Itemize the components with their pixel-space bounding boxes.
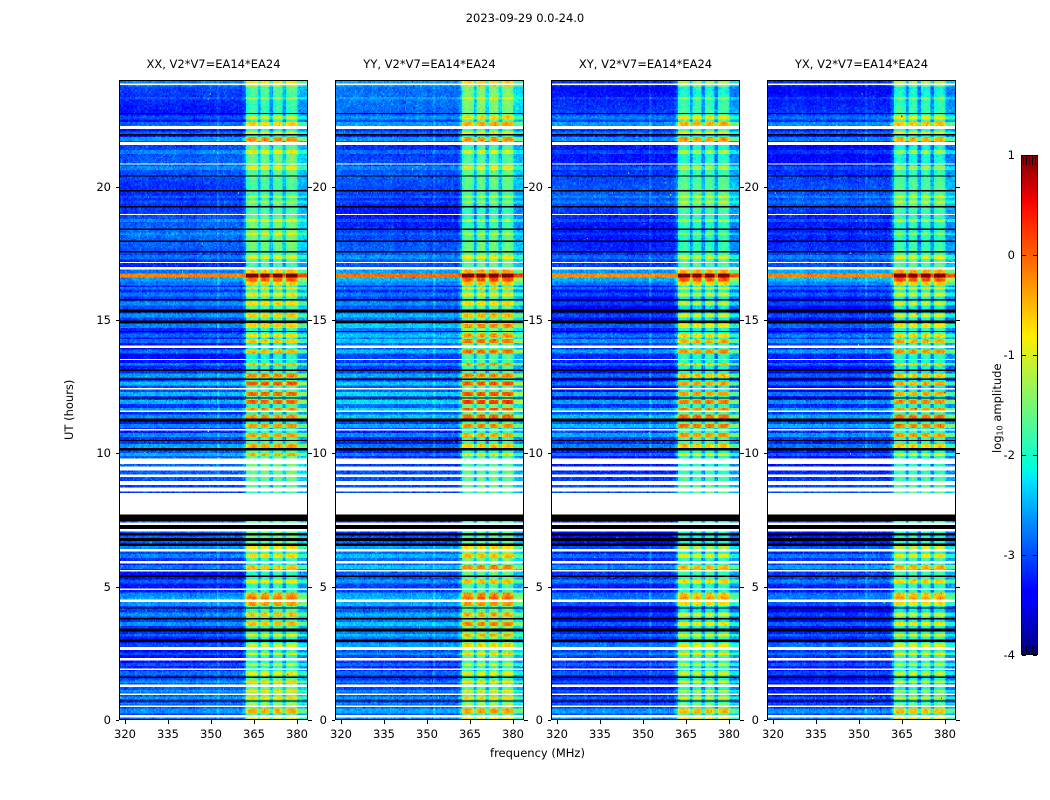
y-tick-label: 5	[85, 580, 111, 594]
x-tick	[859, 720, 860, 724]
colorbar-tick	[1033, 555, 1037, 556]
y-tick	[332, 320, 336, 321]
colorbar-minor-tick	[1023, 157, 1024, 165]
colorbar-gradient	[1022, 156, 1037, 654]
y-tick-label: 5	[517, 580, 543, 594]
y-tick	[548, 720, 552, 721]
y-tick	[116, 320, 120, 321]
x-tick-label: 320	[537, 727, 577, 741]
y-tick-label: 10	[517, 446, 543, 460]
x-tick	[902, 720, 903, 724]
panel-title-xy: XY, V2*V7=EA14*EA24	[551, 57, 740, 71]
y-tick	[332, 187, 336, 188]
x-tick-label: 350	[839, 727, 879, 741]
y-tick-label: 20	[733, 180, 759, 194]
y-tick	[764, 320, 768, 321]
colorbar-minor-tick	[1029, 645, 1030, 653]
waterfall-panel-yy[interactable]	[335, 80, 524, 720]
waterfall-panel-xy[interactable]	[551, 80, 740, 720]
x-tick	[945, 720, 946, 724]
y-tick	[332, 720, 336, 721]
x-axis-label: frequency (MHz)	[119, 746, 956, 760]
y-tick-label: 0	[733, 713, 759, 727]
waterfall-image-yx	[768, 81, 955, 719]
x-tick	[254, 720, 255, 724]
colorbar-minor-tick	[1026, 157, 1027, 165]
y-tick	[548, 587, 552, 588]
y-tick	[548, 187, 552, 188]
y-tick-label: 15	[301, 313, 327, 327]
y-tick	[764, 720, 768, 721]
colorbar-tick	[1022, 555, 1026, 556]
waterfall-panel-xx[interactable]	[119, 80, 308, 720]
y-tick-label: 20	[301, 180, 327, 194]
y-tick	[548, 320, 552, 321]
x-tick-label: 365	[450, 727, 490, 741]
y-tick	[764, 187, 768, 188]
x-tick	[470, 720, 471, 724]
y-tick	[116, 720, 120, 721]
x-tick	[600, 720, 601, 724]
colorbar-label-suffix: amplitude	[990, 364, 1004, 426]
x-tick-label: 380	[925, 727, 965, 741]
y-tick	[956, 720, 960, 721]
x-tick-label: 365	[234, 727, 274, 741]
x-tick	[384, 720, 385, 724]
x-tick-label: 365	[882, 727, 922, 741]
colorbar-tick	[1033, 255, 1037, 256]
x-tick	[168, 720, 169, 724]
colorbar-minor-tick	[1032, 157, 1033, 165]
colorbar-tick	[1022, 355, 1026, 356]
colorbar[interactable]	[1021, 155, 1038, 655]
x-tick	[557, 720, 558, 724]
y-tick	[956, 187, 960, 188]
x-tick	[211, 720, 212, 724]
colorbar-minor-tick	[1026, 645, 1027, 653]
panel-title-yx: YX, V2*V7=EA14*EA24	[767, 57, 956, 71]
colorbar-tick	[1022, 155, 1026, 156]
x-tick	[513, 720, 514, 724]
x-tick	[729, 720, 730, 724]
colorbar-tick-label: 0	[991, 248, 1015, 262]
y-tick	[548, 453, 552, 454]
y-tick	[956, 587, 960, 588]
y-tick-label: 10	[301, 446, 327, 460]
y-tick-label: 10	[733, 446, 759, 460]
colorbar-tick	[1022, 455, 1026, 456]
y-tick-label: 20	[517, 180, 543, 194]
y-tick	[116, 453, 120, 454]
y-axis-label: UT (hours)	[62, 380, 76, 440]
x-tick-label: 320	[753, 727, 793, 741]
colorbar-tick	[1033, 655, 1037, 656]
x-tick-label: 335	[148, 727, 188, 741]
x-tick-label: 350	[407, 727, 447, 741]
x-tick	[643, 720, 644, 724]
colorbar-label-prefix: log	[990, 435, 1004, 453]
x-tick	[125, 720, 126, 724]
colorbar-tick	[1022, 655, 1026, 656]
colorbar-minor-tick	[1035, 157, 1036, 165]
y-tick-label: 0	[517, 713, 543, 727]
y-tick-label: 10	[85, 446, 111, 460]
y-tick	[956, 320, 960, 321]
y-tick	[332, 587, 336, 588]
y-tick-label: 0	[301, 713, 327, 727]
y-tick-label: 5	[733, 580, 759, 594]
x-tick	[816, 720, 817, 724]
y-tick	[764, 587, 768, 588]
y-tick	[332, 453, 336, 454]
waterfall-image-xx	[120, 81, 307, 719]
x-tick-label: 335	[796, 727, 836, 741]
colorbar-tick-label: 1	[991, 148, 1015, 162]
colorbar-tick-label: -3	[991, 548, 1015, 562]
x-tick	[341, 720, 342, 724]
panel-title-xx: XX, V2*V7=EA14*EA24	[119, 57, 308, 71]
y-tick	[764, 453, 768, 454]
x-tick-label: 350	[191, 727, 231, 741]
x-tick	[427, 720, 428, 724]
colorbar-minor-tick	[1029, 157, 1030, 165]
figure-suptitle: 2023-09-29 0.0-24.0	[0, 11, 1050, 25]
y-tick-label: 15	[733, 313, 759, 327]
y-tick-label: 20	[85, 180, 111, 194]
y-tick-label: 5	[301, 580, 327, 594]
waterfall-image-yy	[336, 81, 523, 719]
colorbar-label: log10 amplitude	[990, 364, 1004, 454]
panel-title-yy: YY, V2*V7=EA14*EA24	[335, 57, 524, 71]
x-tick-label: 350	[623, 727, 663, 741]
colorbar-tick	[1033, 455, 1037, 456]
colorbar-tick-label: -4	[991, 648, 1015, 662]
x-tick	[773, 720, 774, 724]
colorbar-minor-tick	[1032, 645, 1033, 653]
waterfall-image-xy	[552, 81, 739, 719]
colorbar-tick	[1033, 155, 1037, 156]
y-tick	[116, 187, 120, 188]
x-tick-label: 380	[493, 727, 533, 741]
x-tick-label: 365	[666, 727, 706, 741]
colorbar-tick	[1022, 255, 1026, 256]
colorbar-tick	[1033, 355, 1037, 356]
waterfall-panel-yx[interactable]	[767, 80, 956, 720]
colorbar-tick-label: -1	[991, 348, 1015, 362]
x-tick-label: 380	[709, 727, 749, 741]
colorbar-minor-tick	[1023, 645, 1024, 653]
x-tick	[297, 720, 298, 724]
x-tick-label: 335	[580, 727, 620, 741]
y-tick	[956, 453, 960, 454]
y-tick	[116, 587, 120, 588]
y-tick-label: 15	[85, 313, 111, 327]
colorbar-minor-tick	[1035, 645, 1036, 653]
y-tick-label: 0	[85, 713, 111, 727]
x-tick-label: 335	[364, 727, 404, 741]
colorbar-label-subscript: 10	[995, 425, 1004, 435]
y-tick-label: 15	[517, 313, 543, 327]
figure-canvas: 2023-09-29 0.0-24.0 UT (hours) frequency…	[0, 0, 1050, 800]
x-tick-label: 380	[277, 727, 317, 741]
x-tick-label: 320	[105, 727, 145, 741]
x-tick-label: 320	[321, 727, 361, 741]
x-tick	[686, 720, 687, 724]
